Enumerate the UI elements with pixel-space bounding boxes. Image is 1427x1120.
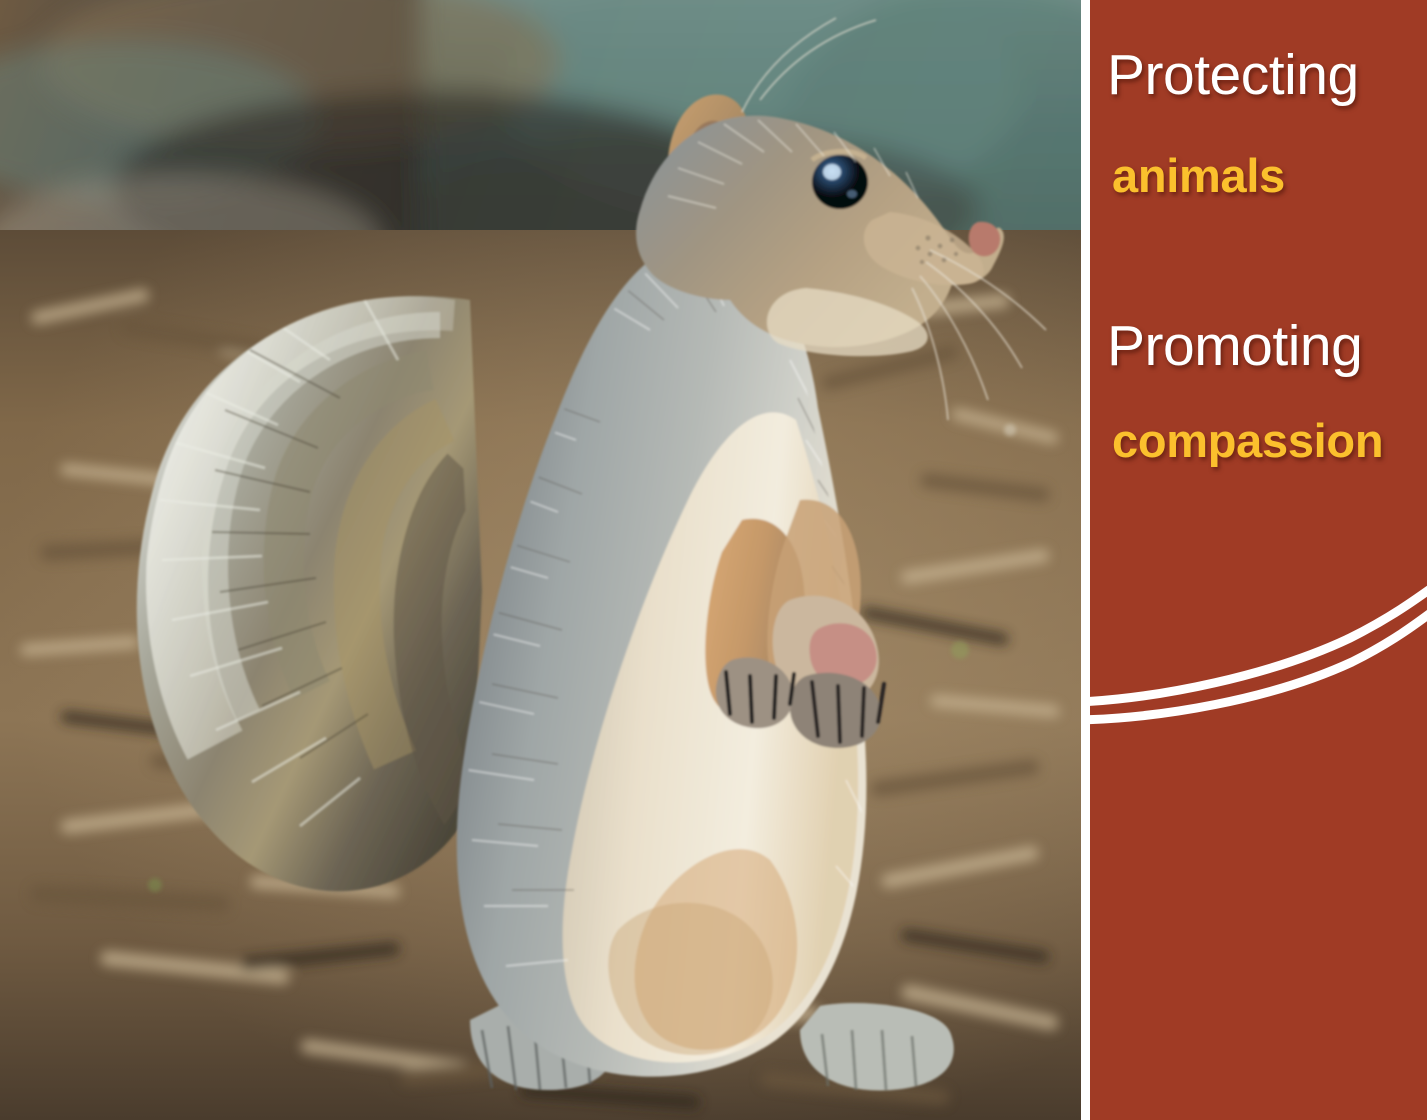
- tagline-line-compassion: compassion: [1112, 417, 1383, 464]
- tagline-line-protecting: Protecting: [1107, 47, 1359, 104]
- panel-divider: [1081, 0, 1090, 1120]
- squirrel-photo-illustration: [0, 0, 1081, 1120]
- tagline-line-animals: animals: [1112, 152, 1285, 199]
- squirrel-photograph: [0, 0, 1081, 1120]
- tagline-banner: Protecting animals Promoting compassion: [1090, 0, 1427, 1120]
- tagline-line-promoting: Promoting: [1107, 318, 1362, 375]
- poster-root: Protecting animals Promoting compassion: [0, 0, 1427, 1120]
